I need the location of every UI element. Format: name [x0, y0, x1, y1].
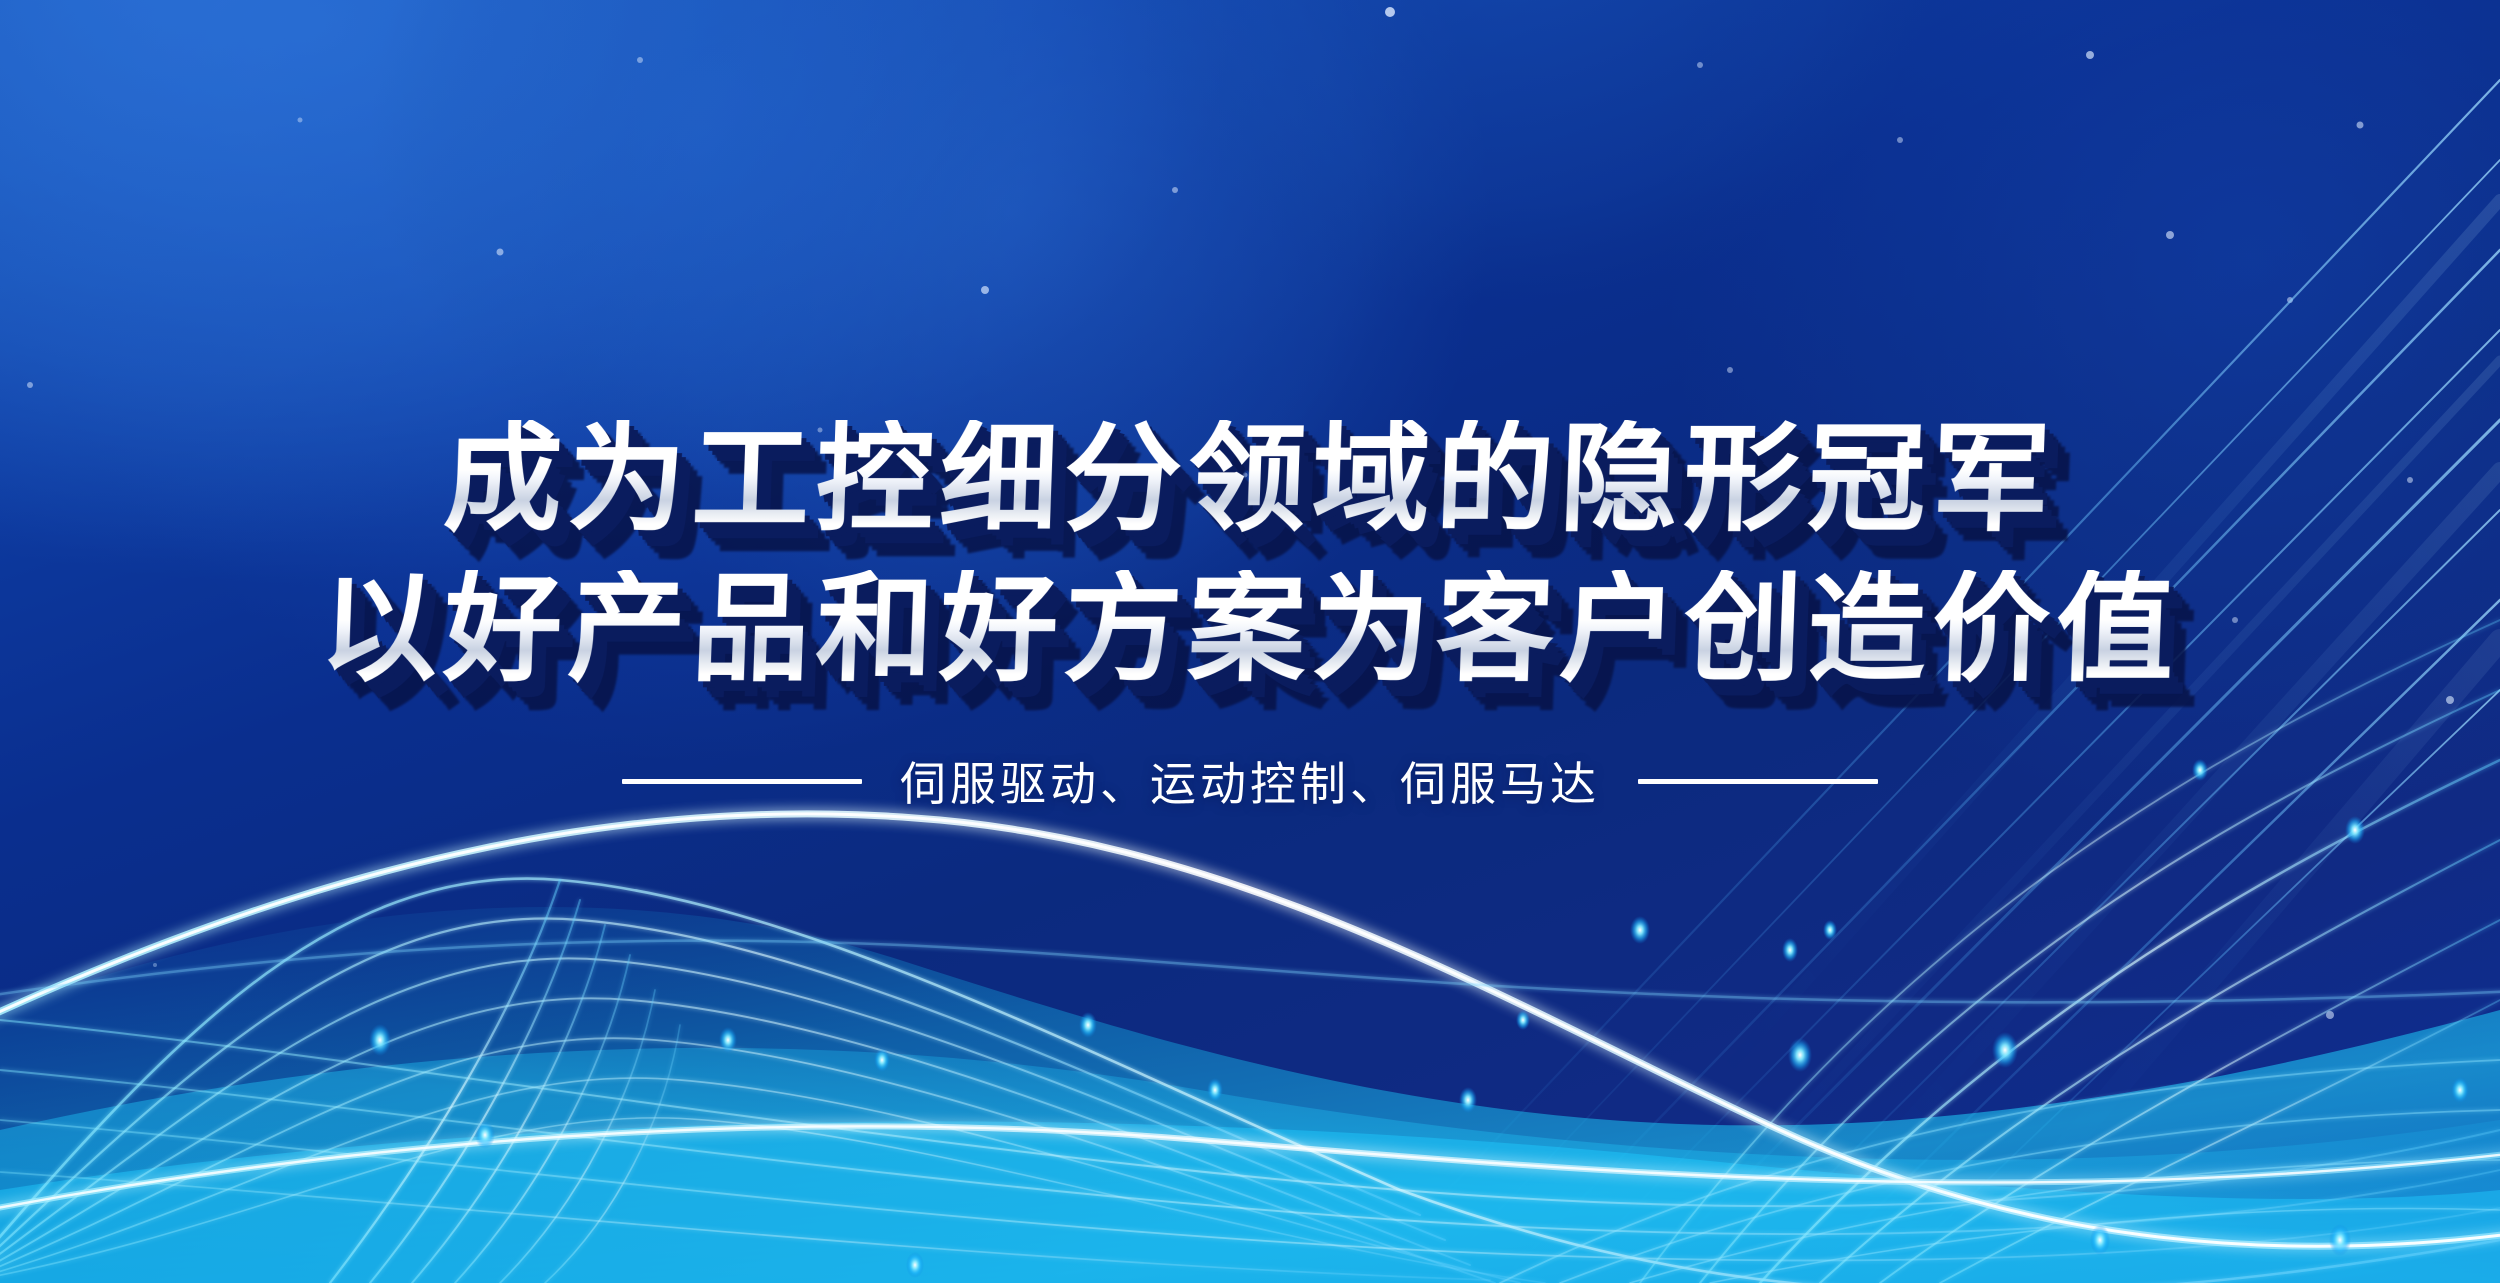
glow-dot	[2451, 1077, 2469, 1103]
glow-dot	[906, 1252, 924, 1278]
subtitle-row: 伺服驱动、运动控制、伺服马达	[0, 748, 2500, 814]
headline-line-2: 以好产品和好方案为客户创造价值	[0, 570, 2500, 688]
wave-fill-right	[0, 1048, 2500, 1283]
subtitle-text: 伺服驱动、运动控制、伺服马达	[900, 748, 1600, 814]
banner-content: 成为工控细分领域的隐形冠军 以好产品和好方案为客户创造价值 伺服驱动、运动控制、…	[0, 420, 2500, 814]
primary-wave	[0, 814, 2500, 1246]
glow-dot	[1823, 920, 1837, 940]
glow-dot	[719, 1027, 737, 1053]
subtitle-right-rule	[1638, 779, 1878, 784]
glow-dot	[1630, 916, 1650, 944]
wave-fill-left	[0, 907, 2500, 1283]
hero-banner: 成为工控细分领域的隐形冠军 以好产品和好方案为客户创造价值 伺服驱动、运动控制、…	[0, 0, 2500, 1283]
glow-dot	[1782, 938, 1798, 962]
subtitle-left-rule	[622, 779, 862, 784]
glow-dot	[1079, 1012, 1097, 1038]
glow-dot	[874, 1048, 890, 1072]
wave-fill-deep	[0, 1121, 2500, 1283]
secondary-wave	[0, 1126, 2500, 1215]
glow-dot	[1516, 1010, 1530, 1030]
glow-dot	[369, 1024, 391, 1056]
secondary-wave-core	[0, 1126, 2500, 1215]
glow-dot	[1788, 1038, 1812, 1072]
primary-wave-core	[0, 814, 2500, 1246]
glow-dot	[1459, 1087, 1477, 1113]
glow-dot	[1992, 1032, 2018, 1068]
soft-circle-small	[370, 0, 1030, 460]
glow-dot	[475, 1121, 495, 1149]
headline-line-1: 成为工控细分领域的隐形冠军	[0, 420, 2500, 538]
glow-dot	[2345, 816, 2365, 844]
glow-dot	[2090, 1225, 2110, 1255]
glow-dot	[2329, 1224, 2351, 1256]
soft-circle-right	[1090, 0, 1950, 310]
glow-dot	[1207, 1078, 1223, 1102]
tertiary-wave	[0, 941, 2500, 1003]
